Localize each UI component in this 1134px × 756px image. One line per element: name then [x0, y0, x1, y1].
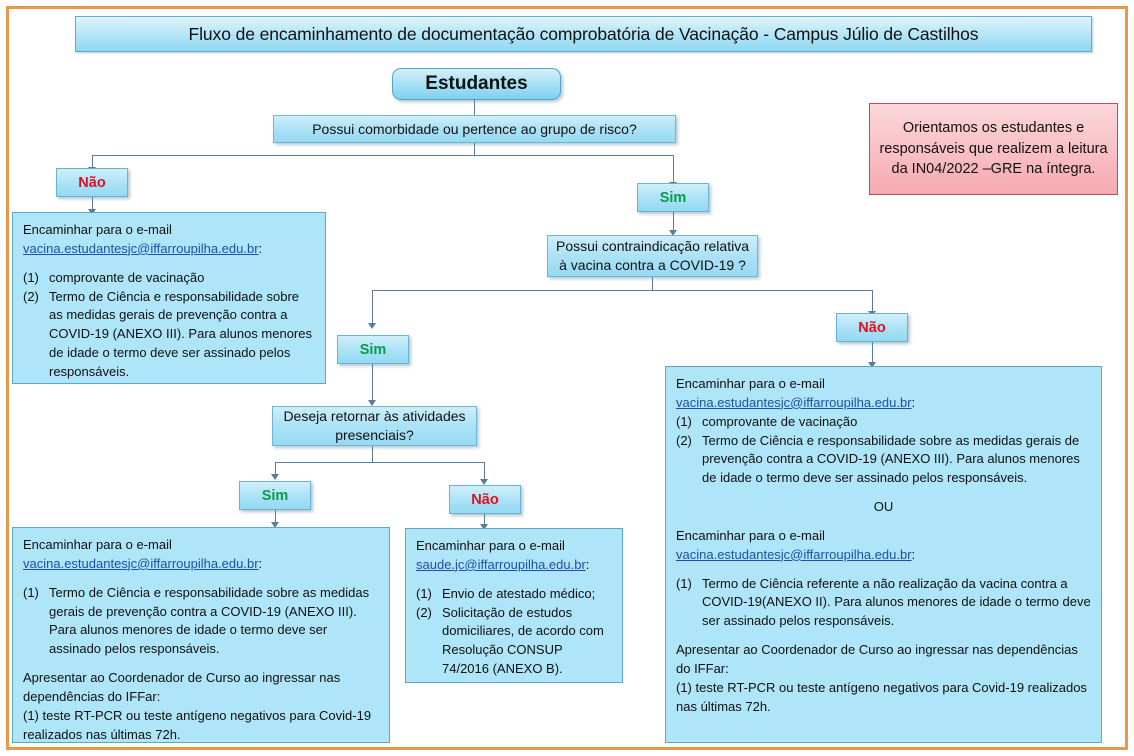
arrow-decision2-yes — [368, 323, 376, 329]
page-title: Fluxo de encaminhamento de documentação … — [75, 16, 1092, 52]
list-item-number: (2) — [676, 432, 702, 489]
connector-decision2-right-drop — [872, 290, 873, 313]
colon: : — [259, 241, 263, 256]
connector-decision1-bus — [92, 155, 674, 156]
label-decision1-no: Não — [56, 168, 128, 197]
connector-decision2-stem — [652, 277, 653, 291]
label-decision2-yes-text: Sim — [360, 342, 387, 358]
page-title-text: Fluxo de encaminhamento de documentação … — [189, 24, 979, 45]
note-orientation-text: Orientamos os estudantes e responsáveis … — [870, 118, 1117, 180]
panel-no-contraindication-list-2: (1) Termo de Ciência referente a não rea… — [676, 575, 1091, 632]
label-decision1-no-text: Não — [78, 175, 105, 191]
flowchart-page: Fluxo de encaminhamento de documentação … — [0, 0, 1134, 756]
list-item: (1) comprovante de vacinação — [676, 413, 1091, 432]
label-decision3-no: Não — [449, 485, 521, 514]
node-decision-return: Deseja retornar às atividades presenciai… — [272, 406, 477, 446]
email-link-vacina[interactable]: vacina.estudantesjc@iffarroupilha.edu.br — [676, 395, 912, 410]
spacer — [676, 565, 1091, 575]
panel-no-comorbidity: Encaminhar para o e-mail vacina.estudant… — [12, 212, 326, 384]
spacer — [23, 259, 315, 269]
panel-return-yes-intro: Encaminhar para o e-mail — [23, 536, 379, 555]
connector-decision2-bus — [372, 290, 873, 291]
spacer — [676, 631, 1091, 641]
list-item-text: Solicitação de estudos domiciliares, de … — [442, 604, 612, 679]
panel-no-contraindication-email-line-2: vacina.estudantesjc@iffarroupilha.edu.br… — [676, 546, 1091, 565]
panel-no-contraindication-intro: Encaminhar para o e-mail — [676, 375, 1091, 394]
list-item-number: (2) — [23, 288, 49, 382]
node-decision-contraindication: Possui contraindicação relativa à vacina… — [547, 235, 758, 277]
list-item-number: (1) — [23, 269, 49, 288]
label-decision2-no: Não — [836, 313, 908, 342]
panel-no-contraindication-email-line: vacina.estudantesjc@iffarroupilha.edu.br… — [676, 394, 1091, 413]
label-decision3-no-text: Não — [471, 492, 498, 508]
panel-return-yes-closing-1: Apresentar ao Coordenador de Curso ao in… — [23, 669, 379, 707]
list-item-text: Envio de atestado médico; — [442, 585, 612, 604]
panel-return-yes: Encaminhar para o e-mail vacina.estudant… — [12, 527, 390, 743]
colon: : — [912, 547, 916, 562]
spacer — [23, 659, 379, 669]
list-item-text: Termo de Ciência e responsabilidade sobr… — [49, 584, 379, 659]
arrow-decision3-yes — [271, 474, 279, 480]
list-item: (1) comprovante de vacinação — [23, 269, 315, 288]
line-2: presenciais? — [283, 426, 465, 445]
panel-no-contraindication-list-1: (1) comprovante de vacinação (2) Termo d… — [676, 413, 1091, 488]
panel-no-contraindication-or: OU — [676, 498, 1091, 517]
spacer — [416, 575, 612, 585]
colon: : — [912, 395, 916, 410]
list-item-number: (2) — [416, 604, 442, 679]
panel-return-no: Encaminhar para o e-mail saude.jc@iffarr… — [405, 528, 623, 683]
list-item: (2) Termo de Ciência e responsabilidade … — [676, 432, 1091, 489]
note-orientation: Orientamos os estudantes e responsáveis … — [869, 103, 1118, 195]
connector-decision2-left-drop — [372, 290, 373, 325]
panel-no-contraindication-closing-2: (1) teste RT-PCR ou teste antígeno negat… — [676, 679, 1091, 717]
email-link-vacina[interactable]: vacina.estudantesjc@iffarroupilha.edu.br — [23, 241, 259, 256]
label-decision3-yes-text: Sim — [262, 488, 289, 504]
node-decision-comorbidity: Possui comorbidade ou pertence ao grupo … — [273, 115, 676, 143]
label-decision2-yes: Sim — [337, 335, 409, 364]
panel-no-comorbidity-intro: Encaminhar para o e-mail — [23, 221, 315, 240]
list-item-text: Termo de Ciência e responsabilidade sobr… — [49, 288, 315, 382]
line-2: à vacina contra a COVID-19 ? — [556, 256, 749, 275]
list-item-number: (1) — [676, 575, 702, 632]
label-decision3-yes: Sim — [239, 481, 311, 510]
list-item: (1) Termo de Ciência e responsabilidade … — [23, 584, 379, 659]
panel-return-yes-list: (1) Termo de Ciência e responsabilidade … — [23, 584, 379, 659]
node-estudantes: Estudantes — [392, 68, 561, 100]
list-item: (1) Envio de atestado médico; — [416, 585, 612, 604]
label-decision2-no-text: Não — [858, 320, 885, 336]
email-link-vacina[interactable]: vacina.estudantesjc@iffarroupilha.edu.br — [676, 547, 912, 562]
email-link-saude[interactable]: saude.jc@iffarroupilha.edu.br — [416, 557, 586, 572]
line-1: Possui contraindicação relativa — [556, 237, 749, 256]
list-item-number: (1) — [416, 585, 442, 604]
label-decision1-yes: Sim — [637, 183, 709, 212]
colon: : — [586, 557, 590, 572]
email-link-vacina[interactable]: vacina.estudantesjc@iffarroupilha.edu.br — [23, 556, 259, 571]
panel-return-no-email-line: saude.jc@iffarroupilha.edu.br: — [416, 556, 612, 575]
panel-no-comorbidity-email-line: vacina.estudantesjc@iffarroupilha.edu.br… — [23, 240, 315, 259]
connector-yes2-to-decision3 — [372, 364, 373, 404]
connector-decision3-stem — [372, 446, 373, 463]
node-decision-contraindication-label: Possui contraindicação relativa à vacina… — [556, 237, 749, 275]
spacer — [23, 574, 379, 584]
connector-decision3-bus — [275, 462, 485, 463]
colon: : — [259, 556, 263, 571]
list-item-number: (1) — [676, 413, 702, 432]
connector-decision1-right-drop — [673, 155, 674, 184]
panel-return-no-list: (1) Envio de atestado médico; (2) Solici… — [416, 585, 612, 679]
list-item: (2) Solicitação de estudos domiciliares,… — [416, 604, 612, 679]
node-estudantes-label: Estudantes — [425, 73, 527, 95]
list-item-text: comprovante de vacinação — [49, 269, 315, 288]
panel-no-contraindication-closing-1: Apresentar ao Coordenador de Curso ao in… — [676, 641, 1091, 679]
list-item-text: comprovante de vacinação — [702, 413, 1091, 432]
list-item-text: Termo de Ciência e responsabilidade sobr… — [702, 432, 1091, 489]
list-item: (1) Termo de Ciência referente a não rea… — [676, 575, 1091, 632]
panel-return-yes-email-line: vacina.estudantesjc@iffarroupilha.edu.br… — [23, 555, 379, 574]
list-item: (2) Termo de Ciência e responsabilidade … — [23, 288, 315, 382]
panel-no-comorbidity-list: (1) comprovante de vacinação (2) Termo d… — [23, 269, 315, 382]
list-item-text: Termo de Ciência referente a não realiza… — [702, 575, 1091, 632]
panel-return-no-intro: Encaminhar para o e-mail — [416, 537, 612, 556]
spacer — [676, 488, 1091, 498]
panel-no-contraindication-intro-2: Encaminhar para o e-mail — [676, 527, 1091, 546]
list-item-number: (1) — [23, 584, 49, 659]
label-decision1-yes-text: Sim — [660, 190, 687, 206]
spacer — [676, 517, 1091, 527]
node-decision-return-label: Deseja retornar às atividades presenciai… — [283, 407, 465, 445]
line-1: Deseja retornar às atividades — [283, 407, 465, 426]
panel-return-yes-closing-2: (1) teste RT-PCR ou teste antígeno negat… — [23, 707, 379, 745]
node-decision-comorbidity-label: Possui comorbidade ou pertence ao grupo … — [312, 120, 637, 139]
panel-no-contraindication: Encaminhar para o e-mail vacina.estudant… — [665, 366, 1102, 743]
